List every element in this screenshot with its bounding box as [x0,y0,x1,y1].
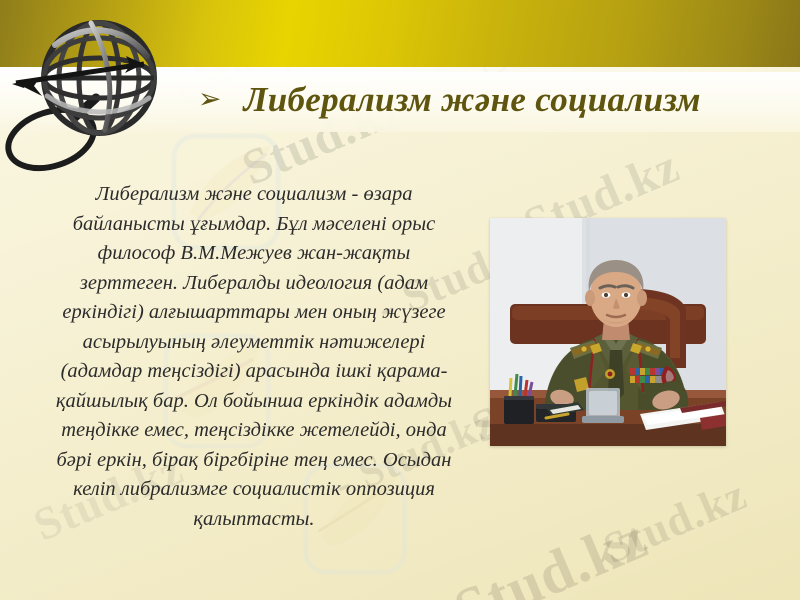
globe-arrow-icon [0,6,184,181]
watermark-text: Stud.kz [445,503,658,600]
body-paragraph: Либерализм және социализм - өзара байлан… [48,180,460,534]
officer-photo [490,218,726,446]
watermark-text: Stud.kz [596,469,754,575]
arrow-bullet-icon: ➢ [198,86,221,114]
slide-title-row: ➢ Либерализм және социализм [198,74,798,126]
presentation-slide: Stud.kz Stud.kz Stud.kz Stud.kz - Stud.k… [0,0,800,600]
page-title: Либерализм және социализм [243,80,700,120]
officer-photo-image [490,218,726,446]
